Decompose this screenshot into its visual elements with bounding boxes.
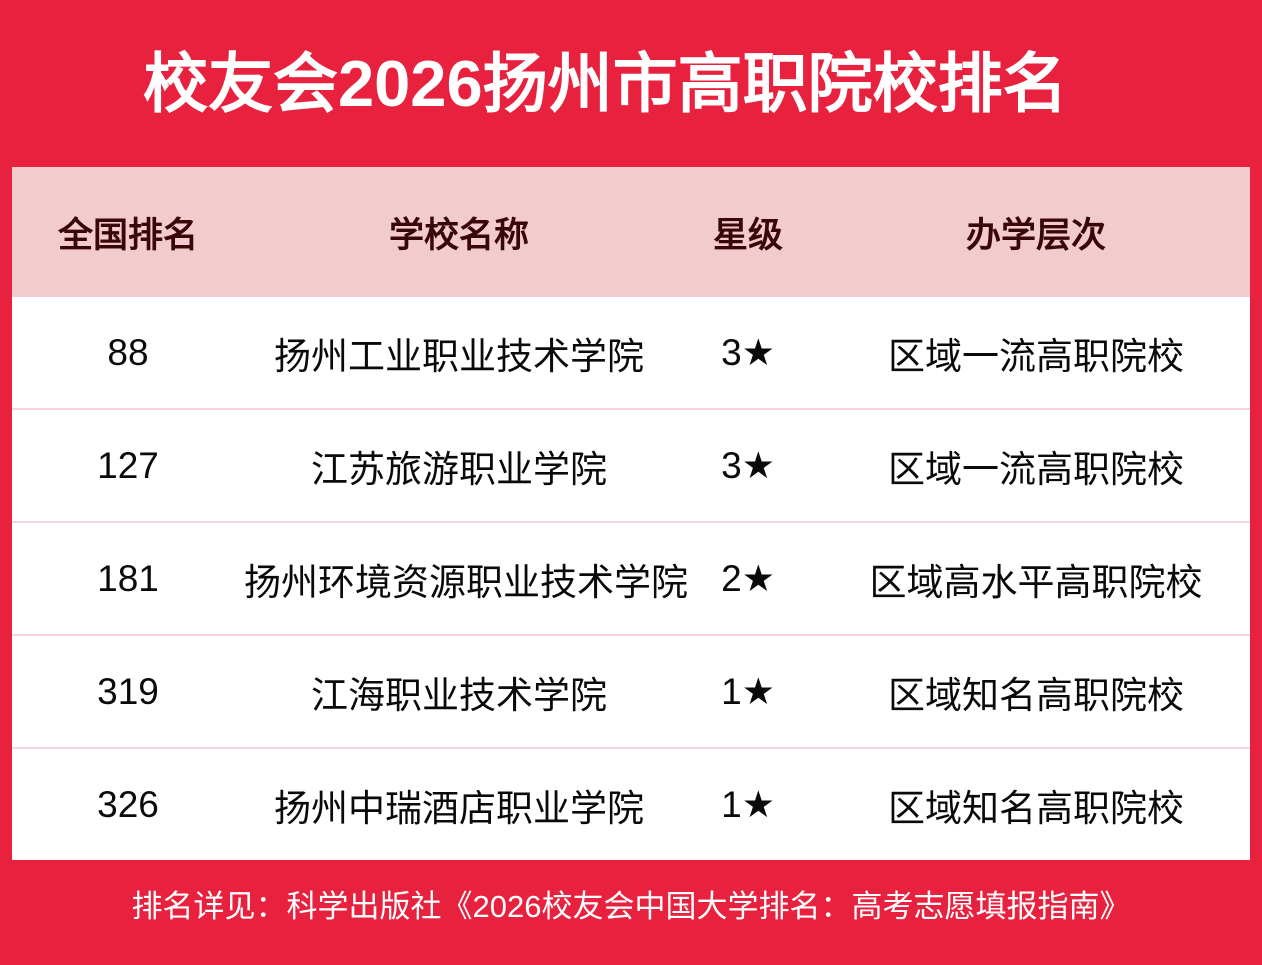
column-header-level: 办学层次 [822,167,1250,297]
cell-name: 江苏旅游职业学院 [244,409,674,522]
ranking-table: 全国排名 学校名称 星级 办学层次 88 扬州工业职业技术学院 3★ 区域一流高… [12,167,1250,860]
ranking-infographic: 校友会2026扬州市高职院校排名 全国排名 学校名称 星级 办学层次 88 扬州… [0,0,1262,965]
column-header-rank: 全国排名 [12,167,244,297]
cell-level: 区域知名高职院校 [822,635,1250,748]
cell-rank: 88 [12,297,244,409]
table-row: 88 扬州工业职业技术学院 3★ 区域一流高职院校 [12,297,1250,409]
cell-level: 区域一流高职院校 [822,409,1250,522]
cell-level: 区域知名高职院校 [822,748,1250,860]
cell-name: 扬州工业职业技术学院 [244,297,674,409]
ranking-table-container: 全国排名 学校名称 星级 办学层次 88 扬州工业职业技术学院 3★ 区域一流高… [12,167,1250,853]
cell-star: 3★ [674,297,822,409]
table-row: 127 江苏旅游职业学院 3★ 区域一流高职院校 [12,409,1250,522]
table-row: 326 扬州中瑞酒店职业学院 1★ 区域知名高职院校 [12,748,1250,860]
cell-star: 3★ [674,409,822,522]
column-header-star: 星级 [674,167,822,297]
footer-bar: 排名详见：科学出版社《2026校友会中国大学排名：高考志愿填报指南》 [0,853,1262,965]
table-header-row: 全国排名 学校名称 星级 办学层次 [12,167,1250,297]
title-bar: 校友会2026扬州市高职院校排名 [0,0,1262,167]
cell-rank: 326 [12,748,244,860]
page-title: 校友会2026扬州市高职院校排名 [143,51,1068,116]
table-header: 全国排名 学校名称 星级 办学层次 [12,167,1250,297]
footer-note: 排名详见：科学出版社《2026校友会中国大学排名：高考志愿填报指南》 [132,891,1131,922]
table-row: 319 江海职业技术学院 1★ 区域知名高职院校 [12,635,1250,748]
table-row: 181 扬州环境资源职业技术学院 2★ 区域高水平高职院校 [12,522,1250,635]
cell-level: 区域一流高职院校 [822,297,1250,409]
cell-name: 扬州中瑞酒店职业学院 [244,748,674,860]
cell-name: 扬州环境资源职业技术学院 [244,522,674,635]
cell-rank: 319 [12,635,244,748]
cell-star: 1★ [674,635,822,748]
cell-rank: 127 [12,409,244,522]
table-body: 88 扬州工业职业技术学院 3★ 区域一流高职院校 127 江苏旅游职业学院 3… [12,297,1250,860]
cell-rank: 181 [12,522,244,635]
cell-level: 区域高水平高职院校 [822,522,1250,635]
column-header-name: 学校名称 [244,167,674,297]
cell-name: 江海职业技术学院 [244,635,674,748]
cell-star: 1★ [674,748,822,860]
cell-star: 2★ [674,522,822,635]
